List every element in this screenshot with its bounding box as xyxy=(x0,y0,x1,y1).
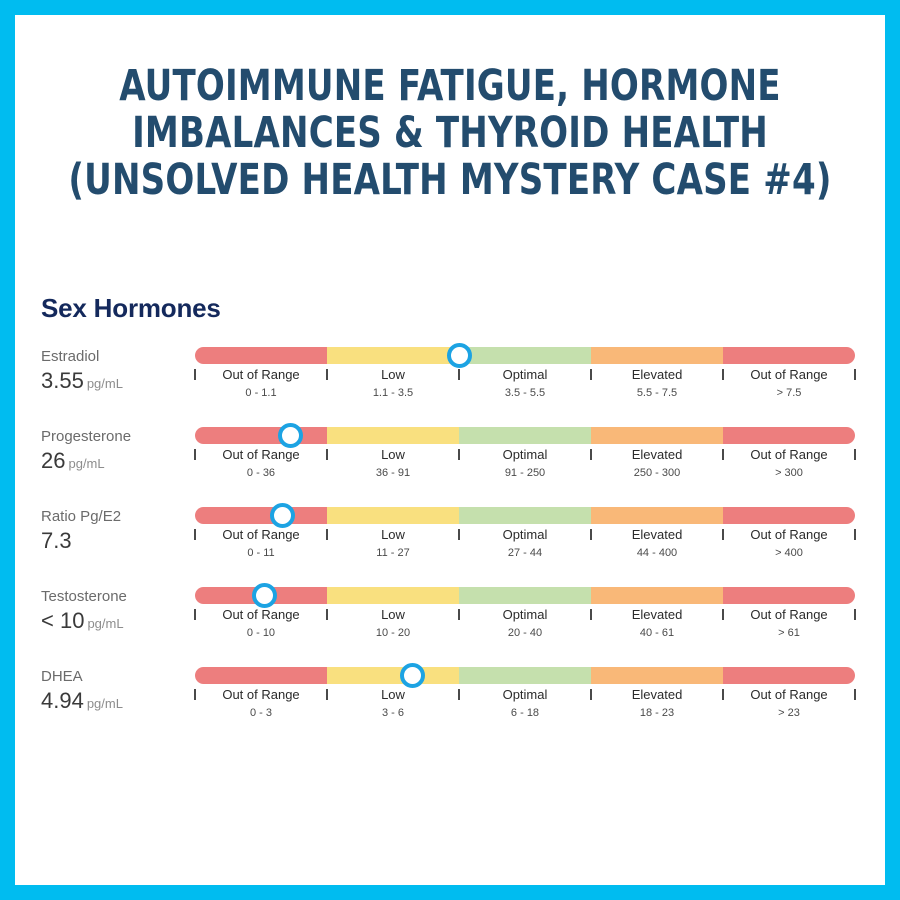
zone-range: 91 - 250 xyxy=(459,465,591,481)
marker-row: Testosterone< 10pg/mLOut of Range0 - 10L… xyxy=(15,587,885,667)
analyte-unit: pg/mL xyxy=(87,616,123,631)
zone-label: Low xyxy=(327,446,459,463)
zone-legend-cell: Out of Range> 300 xyxy=(723,446,855,481)
zone-range: 0 - 36 xyxy=(195,465,327,481)
zone-legend-cell: Low10 - 20 xyxy=(327,606,459,641)
value-marker[interactable] xyxy=(278,423,303,448)
analyte-label-block: Estradiol3.55pg/mL xyxy=(41,347,191,394)
range-bar-area: Out of Range0 - 11Low11 - 27Optimal27 - … xyxy=(195,507,855,587)
zone-label: Out of Range xyxy=(195,526,327,543)
zone-label: Out of Range xyxy=(195,446,327,463)
zone-legend-cell: Low36 - 91 xyxy=(327,446,459,481)
zone-label: Elevated xyxy=(591,686,723,703)
range-bar-area: Out of Range0 - 10Low10 - 20Optimal20 - … xyxy=(195,587,855,667)
zone-label: Optimal xyxy=(459,446,591,463)
marker-row: DHEA4.94pg/mLOut of Range0 - 3Low3 - 6Op… xyxy=(15,667,885,747)
zone-label: Low xyxy=(327,686,459,703)
zone-range: 6 - 18 xyxy=(459,705,591,721)
analyte-value: < 10 xyxy=(41,608,84,633)
zone-range: > 300 xyxy=(723,465,855,481)
zone-legend-cell: Optimal91 - 250 xyxy=(459,446,591,481)
analyte-unit: pg/mL xyxy=(87,376,123,391)
zone-label: Out of Range xyxy=(723,526,855,543)
range-segment xyxy=(459,667,591,684)
value-marker[interactable] xyxy=(270,503,295,528)
zone-label: Optimal xyxy=(459,686,591,703)
range-bar-track xyxy=(195,587,855,604)
range-segment xyxy=(723,587,855,604)
range-segment xyxy=(723,347,855,364)
zone-range: 0 - 1.1 xyxy=(195,385,327,401)
zone-label: Out of Range xyxy=(723,686,855,703)
zone-legend-cell: Elevated5.5 - 7.5 xyxy=(591,366,723,401)
zone-label: Low xyxy=(327,366,459,383)
zone-label: Out of Range xyxy=(195,686,327,703)
range-segment xyxy=(327,347,459,364)
zone-label: Optimal xyxy=(459,366,591,383)
zone-legend-cell: Elevated250 - 300 xyxy=(591,446,723,481)
zone-legend-cell: Optimal3.5 - 5.5 xyxy=(459,366,591,401)
analyte-value-line: 7.3 xyxy=(41,528,191,554)
range-segment xyxy=(327,667,459,684)
zone-legend-cell: Optimal20 - 40 xyxy=(459,606,591,641)
analyte-value: 26 xyxy=(41,448,65,473)
analyte-label-block: DHEA4.94pg/mL xyxy=(41,667,191,714)
zone-label: Out of Range xyxy=(195,606,327,623)
marker-row: Progesterone26pg/mLOut of Range0 - 36Low… xyxy=(15,427,885,507)
zone-label: Elevated xyxy=(591,446,723,463)
zone-range: > 7.5 xyxy=(723,385,855,401)
range-segment xyxy=(591,587,723,604)
range-segment xyxy=(459,587,591,604)
zone-legend-cell: Out of Range0 - 36 xyxy=(195,446,327,481)
poster-canvas: Autoimmune Fatigue, Hormone Imbalances &… xyxy=(15,15,885,885)
analyte-label-block: Progesterone26pg/mL xyxy=(41,427,191,474)
title-line-3: (Unsolved Health Mystery Case #4) xyxy=(67,157,833,204)
title-line-2: Imbalances & Thyroid Health xyxy=(67,110,833,157)
zone-label: Out of Range xyxy=(195,366,327,383)
zone-label: Optimal xyxy=(459,526,591,543)
zone-range: 250 - 300 xyxy=(591,465,723,481)
zone-range: > 23 xyxy=(723,705,855,721)
analyte-label-block: Testosterone< 10pg/mL xyxy=(41,587,191,634)
zone-range: 20 - 40 xyxy=(459,625,591,641)
zone-label: Elevated xyxy=(591,526,723,543)
zone-legend: Out of Range0 - 36Low36 - 91Optimal91 - … xyxy=(195,446,855,481)
analyte-value: 4.94 xyxy=(41,688,84,713)
range-segment xyxy=(195,347,327,364)
range-segment xyxy=(195,667,327,684)
zone-range: 3 - 6 xyxy=(327,705,459,721)
zone-legend-cell: Low1.1 - 3.5 xyxy=(327,366,459,401)
zone-legend-cell: Elevated44 - 400 xyxy=(591,526,723,561)
zone-legend-cell: Elevated18 - 23 xyxy=(591,686,723,721)
zone-range: 1.1 - 3.5 xyxy=(327,385,459,401)
range-bar-track xyxy=(195,667,855,684)
range-bar-area: Out of Range0 - 1.1Low1.1 - 3.5Optimal3.… xyxy=(195,347,855,427)
zone-range: 0 - 10 xyxy=(195,625,327,641)
marker-row: Estradiol3.55pg/mLOut of Range0 - 1.1Low… xyxy=(15,347,885,427)
analyte-name: Ratio Pg/E2 xyxy=(41,507,191,527)
range-segment xyxy=(591,507,723,524)
zone-legend-cell: Out of Range> 61 xyxy=(723,606,855,641)
marker-row: Ratio Pg/E27.3Out of Range0 - 11Low11 - … xyxy=(15,507,885,587)
range-bar-area: Out of Range0 - 3Low3 - 6Optimal6 - 18El… xyxy=(195,667,855,747)
range-segment xyxy=(591,667,723,684)
range-segment xyxy=(591,347,723,364)
zone-legend-cell: Low11 - 27 xyxy=(327,526,459,561)
range-segment xyxy=(723,667,855,684)
value-marker[interactable] xyxy=(400,663,425,688)
zone-range: 27 - 44 xyxy=(459,545,591,561)
page-title: Autoimmune Fatigue, Hormone Imbalances &… xyxy=(15,63,885,204)
title-line-1: Autoimmune Fatigue, Hormone xyxy=(67,63,833,110)
zone-range: 10 - 20 xyxy=(327,625,459,641)
zone-legend: Out of Range0 - 11Low11 - 27Optimal27 - … xyxy=(195,526,855,561)
zone-label: Out of Range xyxy=(723,606,855,623)
zone-legend: Out of Range0 - 10Low10 - 20Optimal20 - … xyxy=(195,606,855,641)
analyte-value-line: 4.94pg/mL xyxy=(41,688,191,714)
analyte-value-line: < 10pg/mL xyxy=(41,608,191,634)
range-segment xyxy=(459,507,591,524)
zone-range: 18 - 23 xyxy=(591,705,723,721)
analyte-label-block: Ratio Pg/E27.3 xyxy=(41,507,191,554)
range-segment xyxy=(591,427,723,444)
zone-range: > 61 xyxy=(723,625,855,641)
range-segment xyxy=(723,427,855,444)
zone-legend-cell: Low3 - 6 xyxy=(327,686,459,721)
zone-label: Low xyxy=(327,606,459,623)
analyte-name: Estradiol xyxy=(41,347,191,367)
zone-legend-cell: Optimal6 - 18 xyxy=(459,686,591,721)
zone-label: Elevated xyxy=(591,606,723,623)
zone-legend-cell: Optimal27 - 44 xyxy=(459,526,591,561)
zone-range: > 400 xyxy=(723,545,855,561)
range-bar-track xyxy=(195,347,855,364)
analyte-name: Testosterone xyxy=(41,587,191,607)
zone-legend-cell: Out of Range0 - 10 xyxy=(195,606,327,641)
analyte-value: 3.55 xyxy=(41,368,84,393)
zone-range: 36 - 91 xyxy=(327,465,459,481)
value-marker[interactable] xyxy=(447,343,472,368)
zone-legend: Out of Range0 - 3Low3 - 6Optimal6 - 18El… xyxy=(195,686,855,721)
zone-range: 5.5 - 7.5 xyxy=(591,385,723,401)
zone-range: 0 - 11 xyxy=(195,545,327,561)
zone-label: Optimal xyxy=(459,606,591,623)
range-bar-area: Out of Range0 - 36Low36 - 91Optimal91 - … xyxy=(195,427,855,507)
range-segment xyxy=(459,427,591,444)
range-segment xyxy=(327,427,459,444)
zone-label: Low xyxy=(327,526,459,543)
zone-range: 44 - 400 xyxy=(591,545,723,561)
zone-legend-cell: Out of Range> 7.5 xyxy=(723,366,855,401)
poster-frame: Autoimmune Fatigue, Hormone Imbalances &… xyxy=(0,0,900,900)
range-segment xyxy=(195,427,327,444)
zone-legend-cell: Out of Range0 - 3 xyxy=(195,686,327,721)
zone-range: 40 - 61 xyxy=(591,625,723,641)
zone-legend-cell: Out of Range0 - 11 xyxy=(195,526,327,561)
zone-legend: Out of Range0 - 1.1Low1.1 - 3.5Optimal3.… xyxy=(195,366,855,401)
section-heading: Sex Hormones xyxy=(41,293,221,324)
range-segment xyxy=(327,507,459,524)
zone-legend-cell: Out of Range> 400 xyxy=(723,526,855,561)
zone-range: 0 - 3 xyxy=(195,705,327,721)
range-segment xyxy=(723,507,855,524)
analyte-value-line: 26pg/mL xyxy=(41,448,191,474)
hormone-panel: Estradiol3.55pg/mLOut of Range0 - 1.1Low… xyxy=(15,347,885,747)
zone-legend-cell: Out of Range> 23 xyxy=(723,686,855,721)
zone-label: Out of Range xyxy=(723,446,855,463)
value-marker[interactable] xyxy=(252,583,277,608)
zone-legend-cell: Elevated40 - 61 xyxy=(591,606,723,641)
zone-range: 3.5 - 5.5 xyxy=(459,385,591,401)
zone-range: 11 - 27 xyxy=(327,545,459,561)
range-segment xyxy=(327,587,459,604)
analyte-value: 7.3 xyxy=(41,528,72,553)
analyte-value-line: 3.55pg/mL xyxy=(41,368,191,394)
zone-legend-cell: Out of Range0 - 1.1 xyxy=(195,366,327,401)
analyte-name: DHEA xyxy=(41,667,191,687)
range-segment xyxy=(459,347,591,364)
analyte-unit: pg/mL xyxy=(87,696,123,711)
zone-label: Elevated xyxy=(591,366,723,383)
analyte-unit: pg/mL xyxy=(68,456,104,471)
range-segment xyxy=(195,507,327,524)
zone-label: Out of Range xyxy=(723,366,855,383)
analyte-name: Progesterone xyxy=(41,427,191,447)
